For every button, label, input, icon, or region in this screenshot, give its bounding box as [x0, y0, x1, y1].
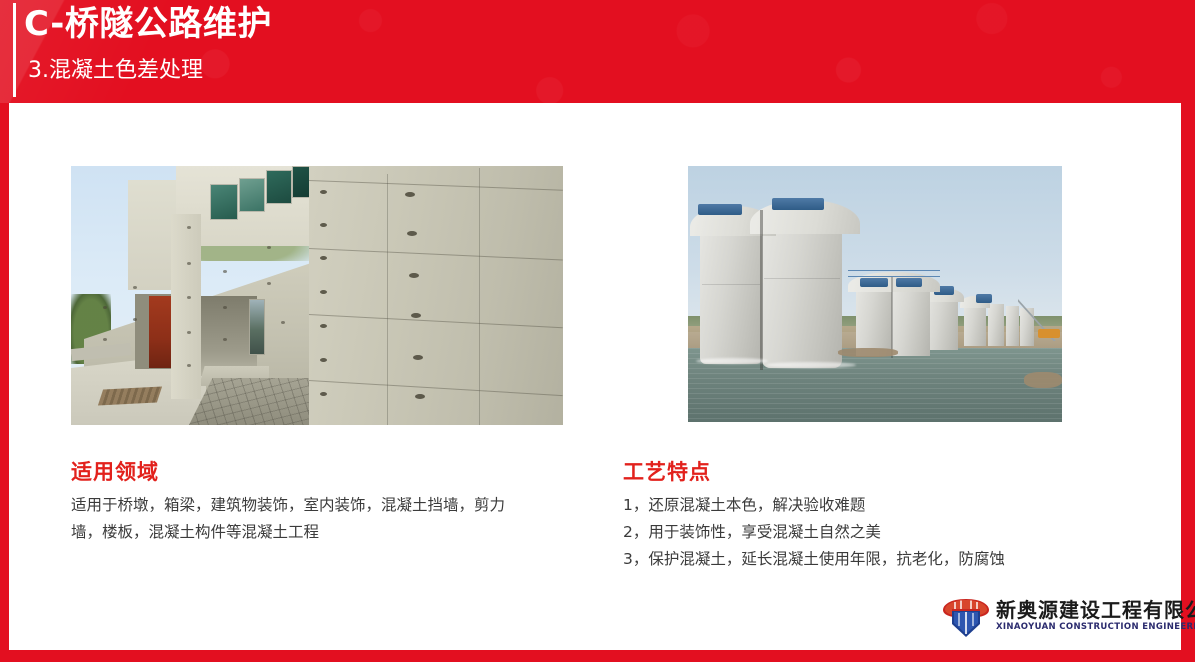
photo-pier-seam: [702, 284, 760, 285]
photo-tie-hole: [320, 223, 327, 227]
right-column-heading: 工艺特点: [623, 456, 711, 486]
left-column-heading: 适用领域: [71, 456, 159, 486]
photo-slot-window: [249, 299, 265, 355]
shield-crown-logo-icon: [942, 596, 990, 640]
photo-tie-hole: [187, 364, 191, 367]
photo-water-foam: [766, 362, 856, 368]
photo-tie-hole: [187, 226, 191, 229]
photo-tie-hole: [415, 394, 425, 399]
page-title: C-桥隧公路维护: [24, 2, 272, 46]
photo-near-pier: [762, 220, 842, 368]
title-accent-bar: [13, 3, 16, 97]
body-line: 墙，楼板，混凝土构件等混凝土工程: [71, 519, 571, 546]
photo-pier-joint: [891, 276, 893, 358]
photo-tie-hole: [187, 331, 191, 334]
company-logo: 新奥源建设工程有限公司 XINAOYUAN CONSTRUCTION ENGIN…: [942, 594, 1172, 644]
left-column-body: 适用于桥墩，箱梁，建筑物装饰，室内装饰，混凝土挡墙，剪力 墙，楼板，混凝土构件等…: [71, 492, 571, 546]
photo-window: [210, 184, 238, 220]
body-line: 3，保护混凝土，延长混凝土使用年限，抗老化，防腐蚀: [623, 546, 1093, 573]
photo-tie-hole: [411, 313, 421, 318]
photo-near-concrete-wall: [309, 166, 563, 425]
photo-tie-hole: [133, 318, 137, 321]
photo-pillar: [171, 214, 201, 399]
photo-distant-pier: [926, 294, 958, 350]
photo-tie-hole: [281, 321, 285, 324]
photo-pier-cap: [976, 294, 992, 303]
fair-faced-concrete-building-photo: [71, 166, 563, 425]
photo-tie-hole: [407, 231, 417, 236]
photo-riverbed-rocks: [838, 348, 898, 357]
photo-tie-hole: [405, 192, 415, 197]
photo-pier-cap: [698, 204, 742, 215]
photo-pier-cap: [772, 198, 824, 210]
photo-pier-cap: [860, 278, 888, 287]
frame-right-border: [1181, 103, 1195, 652]
photo-tie-hole: [267, 246, 271, 249]
bridge-piers-river-photo: [688, 166, 1062, 422]
photo-mid-pier: [856, 284, 892, 356]
photo-tie-hole: [413, 355, 423, 360]
photo-tie-hole: [409, 273, 419, 278]
photo-pier-seam: [764, 278, 840, 279]
photo-pier-railing: [848, 270, 940, 271]
photo-tie-hole: [187, 262, 191, 265]
header-band: C-桥隧公路维护 3.混凝土色差处理: [0, 0, 1195, 103]
slide-root: C-桥隧公路维护 3.混凝土色差处理: [0, 0, 1195, 662]
photo-tie-hole: [103, 306, 107, 309]
page-subtitle: 3.混凝土色差处理: [28, 55, 203, 87]
photo-water-foam: [696, 358, 768, 364]
body-line: 适用于桥墩，箱梁，建筑物装饰，室内装饰，混凝土挡墙，剪力: [71, 492, 571, 519]
photo-tie-hole: [320, 190, 327, 194]
photo-mid-pier: [892, 284, 930, 356]
photo-pier-joint: [760, 210, 763, 370]
photo-near-pier: [700, 224, 762, 364]
photo-wall-seam: [387, 174, 388, 425]
photo-distant-pier: [988, 304, 1004, 346]
photo-tie-hole: [223, 270, 227, 273]
photo-tie-hole: [320, 256, 327, 260]
frame-left-border: [0, 103, 9, 652]
photo-tie-hole: [320, 392, 327, 396]
photo-tie-hole: [267, 282, 271, 285]
right-column-body: 1，还原混凝土本色，解决验收难题 2，用于装饰性，享受混凝土自然之美 3，保护混…: [623, 492, 1093, 573]
photo-pier-cap: [896, 278, 922, 287]
photo-riverbed-rocks: [1024, 372, 1062, 388]
frame-bottom-border: [0, 650, 1195, 662]
photo-tie-hole: [133, 286, 137, 289]
body-line: 2，用于装饰性，享受混凝土自然之美: [623, 519, 1093, 546]
photo-tie-hole: [103, 338, 107, 341]
company-name-cn: 新奥源建设工程有限公司: [996, 594, 1195, 623]
photo-wall-seam: [479, 168, 480, 425]
photo-tie-hole: [187, 296, 191, 299]
photo-drain-grate: [98, 386, 162, 405]
photo-red-door: [149, 296, 171, 368]
photo-tie-hole: [320, 324, 327, 328]
photo-tie-hole: [223, 338, 227, 341]
photo-tie-hole: [320, 358, 327, 362]
photo-window: [239, 178, 265, 212]
photo-pier-railing: [848, 276, 940, 277]
photo-tie-hole: [320, 290, 327, 294]
body-line: 1，还原混凝土本色，解决验收难题: [623, 492, 1093, 519]
photo-window: [266, 170, 292, 204]
company-name-en: XINAOYUAN CONSTRUCTION ENGINEERING CO.,L…: [996, 622, 1195, 632]
photo-crane-base: [1038, 329, 1060, 338]
photo-tie-hole: [223, 306, 227, 309]
